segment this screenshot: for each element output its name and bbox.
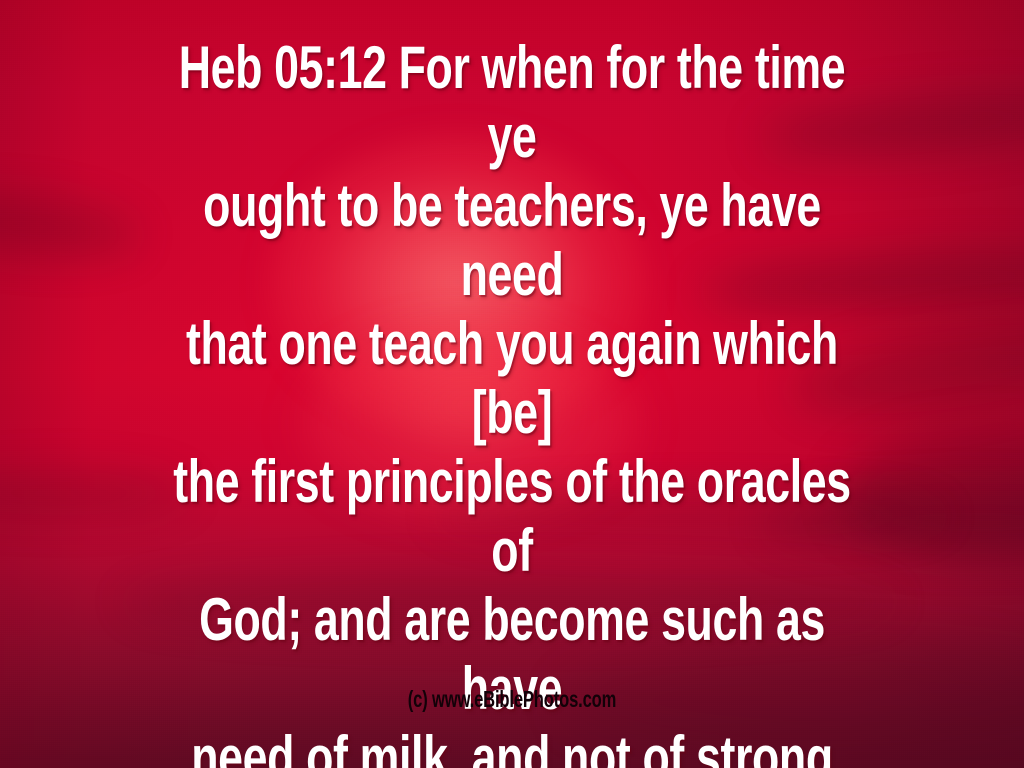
verse-image-canvas: Heb 05:12 For when for the time ye ought… (0, 0, 1024, 768)
copyright-credit: (c) www.eBiblePhotos.com (143, 686, 880, 712)
verse-text: Heb 05:12 For when for the time ye ought… (131, 33, 894, 768)
